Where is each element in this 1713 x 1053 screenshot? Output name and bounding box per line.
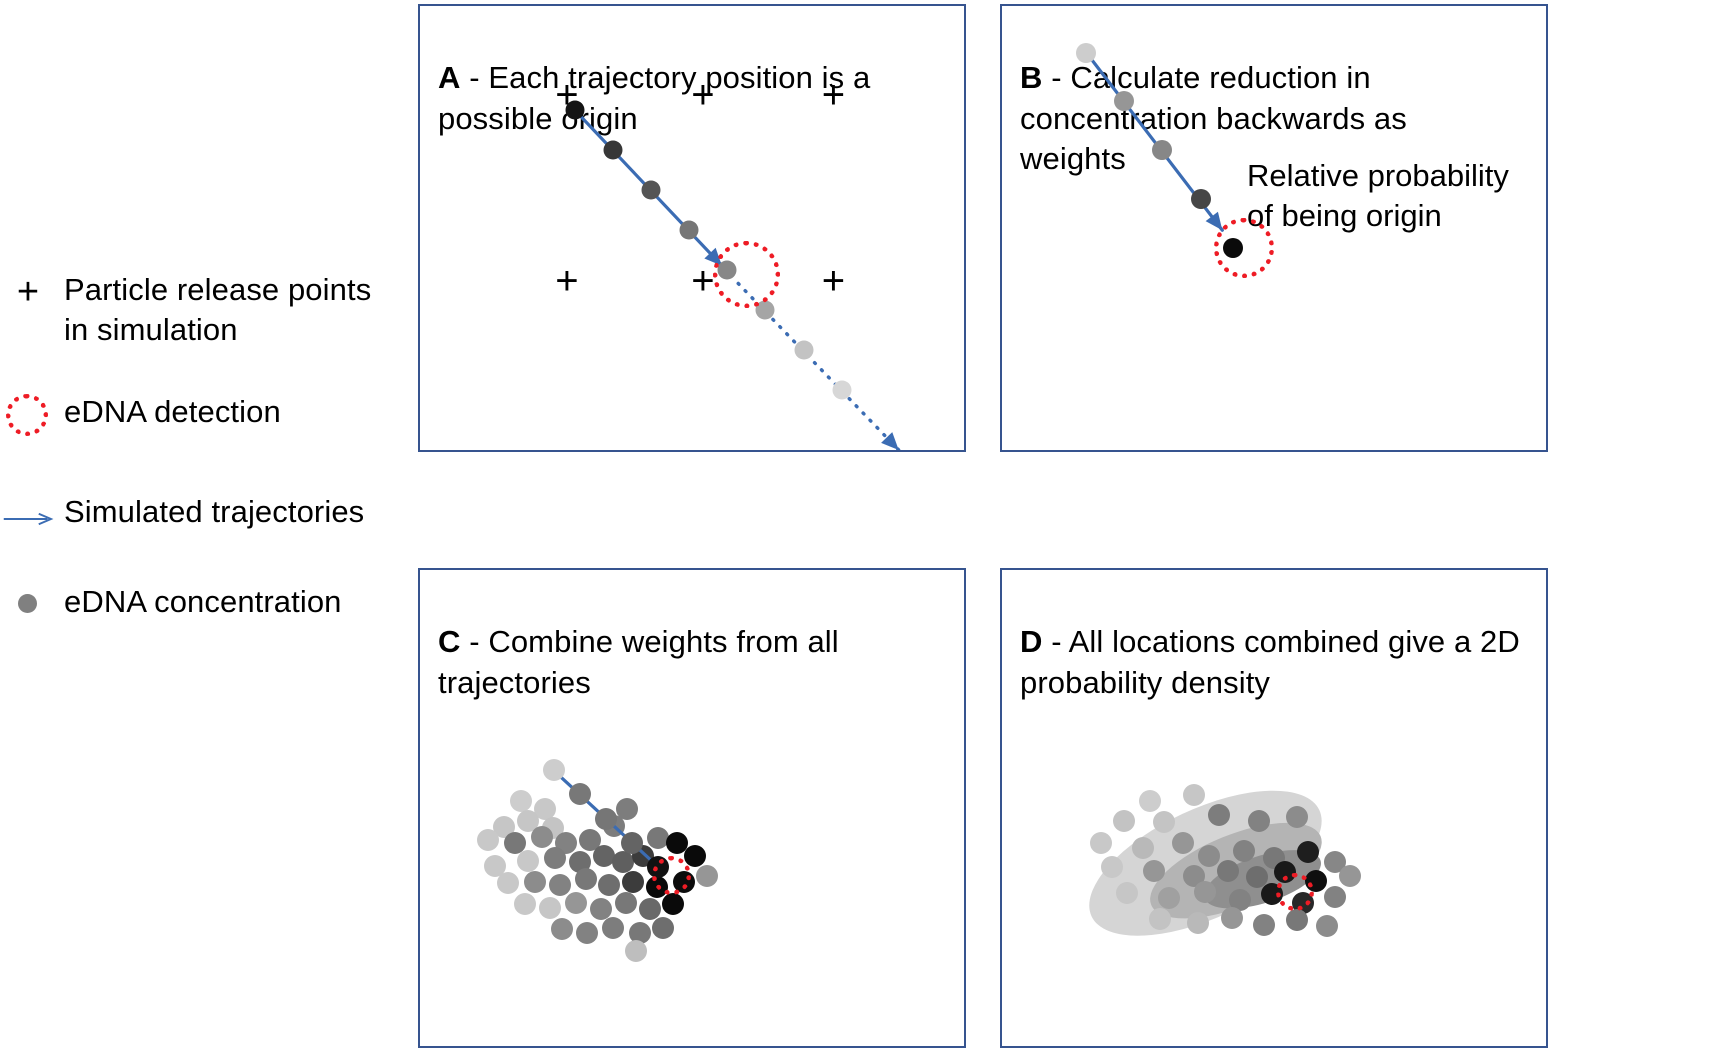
cloud-dot-6 <box>1286 806 1308 828</box>
gray-dot-icon <box>0 582 64 626</box>
cloud-dot-15 <box>1101 856 1123 878</box>
panel-a: A - Each trajectory position is a possib… <box>418 4 966 452</box>
concentration-dot-0 <box>1076 43 1096 63</box>
blue-arrow-icon <box>0 492 64 536</box>
panel-c-canvas <box>420 570 964 1046</box>
cloud-dot-1 <box>1183 784 1205 806</box>
legend-item-concentration: eDNA concentration <box>0 582 420 626</box>
cloud-dot-3 <box>1153 811 1175 833</box>
cloud-dot-11 <box>1233 840 1255 862</box>
red-dashed-circle-icon <box>0 392 64 436</box>
release-point-marker-5: + <box>822 261 845 301</box>
concentration-dot-6 <box>794 341 813 360</box>
cloud-dot-5 <box>1248 810 1270 832</box>
cloud-dot-10 <box>1198 845 1220 867</box>
concentration-dot-0 <box>566 101 585 120</box>
legend-label-release-points: Particle release points in simulation <box>64 270 371 349</box>
legend-label-trajectories: Simulated trajectories <box>64 492 364 532</box>
panel-b: B - Calculate reduction in concentration… <box>1000 4 1548 452</box>
trajectory-dot-1 <box>569 783 591 805</box>
panel-c-trajectory-svg <box>420 570 964 1046</box>
trajectory-dot-0 <box>543 759 565 781</box>
cloud-dot-33 <box>1253 914 1275 936</box>
cloud-dot-29 <box>1324 886 1346 908</box>
release-point-marker-1: + <box>691 75 714 115</box>
trajectory-dot-3 <box>621 832 643 854</box>
cloud-dot-4 <box>1208 804 1230 826</box>
plus-glyph: + <box>17 273 39 311</box>
concentration-dot-3 <box>680 221 699 240</box>
legend-item-release-points: + Particle release points in simulation <box>0 270 420 349</box>
concentration-dot-1 <box>604 141 623 160</box>
figure-root: + Particle release points in simulation … <box>0 0 1713 1053</box>
panel-d-density-svg <box>1002 570 1546 1046</box>
concentration-dot-1 <box>1114 91 1134 111</box>
concentration-dot-2 <box>642 181 661 200</box>
concentration-dot-2 <box>1152 140 1172 160</box>
cloud-dot-31 <box>1187 912 1209 934</box>
edna-detection-circle <box>713 241 780 308</box>
concentration-dot-7 <box>832 381 851 400</box>
panel-b-canvas <box>1002 6 1546 450</box>
detection-circle-shape <box>6 394 48 436</box>
panel-d: D - All locations combined give a 2D pro… <box>1000 568 1548 1048</box>
edna-detection-circle <box>1276 873 1314 911</box>
cloud-dot-32 <box>1221 907 1243 929</box>
cloud-dot-9 <box>1172 832 1194 854</box>
concentration-dot-3 <box>1191 189 1211 209</box>
panel-d-canvas <box>1002 570 1546 1046</box>
edna-detection-circle <box>1214 218 1274 278</box>
release-point-marker-2: + <box>822 75 845 115</box>
cloud-dot-7 <box>1090 832 1112 854</box>
release-point-marker-3: + <box>555 261 578 301</box>
cloud-dot-0 <box>1139 790 1161 812</box>
cloud-dot-2 <box>1113 810 1135 832</box>
trajectory-dot-2 <box>595 808 617 830</box>
cloud-dot-13 <box>1297 841 1319 863</box>
trajectory-arrowhead <box>1206 212 1223 230</box>
legend-item-trajectories: Simulated trajectories <box>0 492 420 536</box>
legend-label-edna-detection: eDNA detection <box>64 392 281 432</box>
cloud-dot-30 <box>1149 908 1171 930</box>
release-point-marker-4: + <box>691 261 714 301</box>
cloud-dot-35 <box>1316 915 1338 937</box>
arrow-glyph <box>0 512 60 526</box>
panel-b-trajectory-svg <box>1002 6 1546 450</box>
cloud-dot-8 <box>1132 837 1154 859</box>
cloud-dot-16 <box>1143 860 1165 882</box>
cloud-dot-34 <box>1286 909 1308 931</box>
cloud-dot-22 <box>1339 865 1361 887</box>
concentration-dot-shape <box>18 594 37 613</box>
cloud-dot-23 <box>1116 882 1138 904</box>
panel-c: C - Combine weights from all trajectorie… <box>418 568 966 1048</box>
cloud-dot-25 <box>1194 881 1216 903</box>
cloud-dot-24 <box>1158 887 1180 909</box>
plus-icon: + <box>0 270 64 314</box>
legend-item-edna-detection: eDNA detection <box>0 392 420 436</box>
panel-a-canvas: ++++++ <box>420 6 964 450</box>
legend-label-concentration: eDNA concentration <box>64 582 342 622</box>
figure-legend: + Particle release points in simulation … <box>0 270 420 660</box>
cloud-dot-18 <box>1217 860 1239 882</box>
